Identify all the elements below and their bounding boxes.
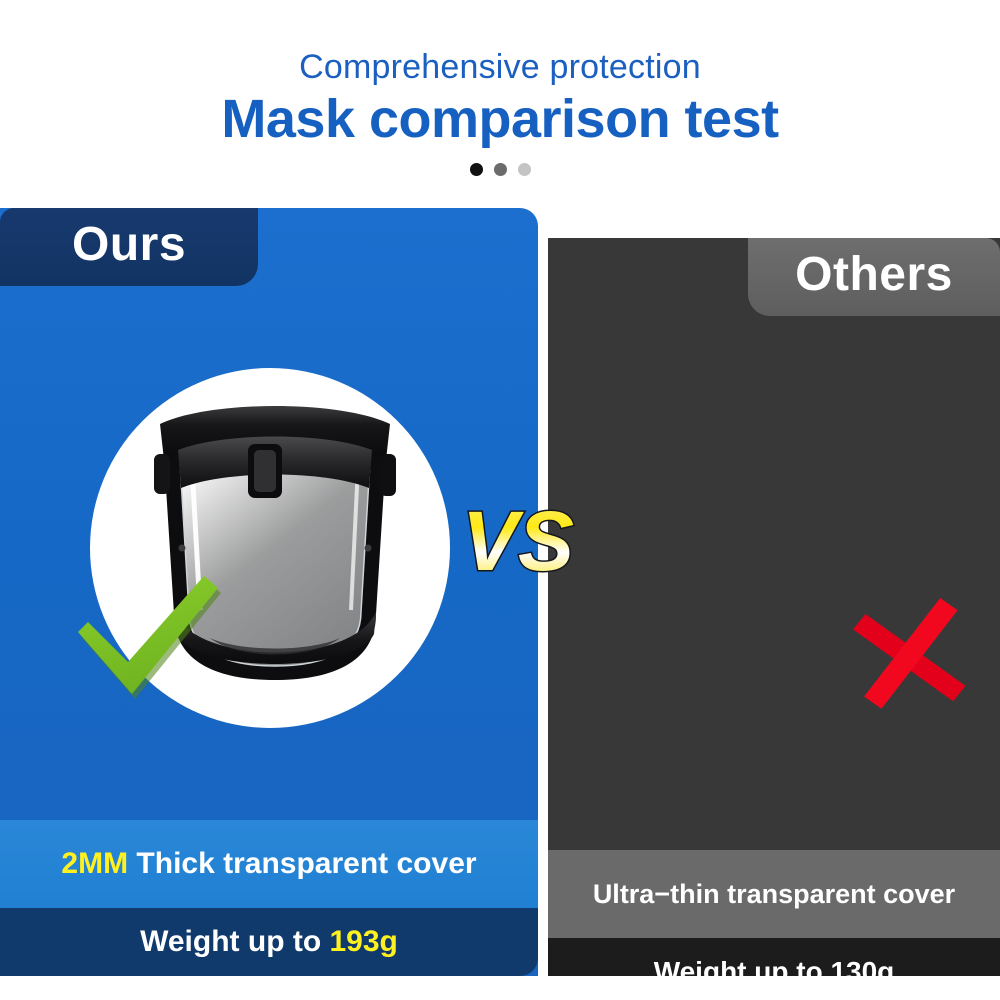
carousel-dots (0, 163, 1000, 176)
others-weight-text: Weight up to 130g (654, 956, 895, 976)
carousel-dot-1[interactable] (470, 163, 483, 176)
ours-cover-highlight: 2MM (61, 847, 128, 880)
others-cover-band: Ultra−thin transparent cover (548, 850, 1000, 938)
others-weight-value: 130g (830, 956, 894, 976)
ours-cover-rest: Thick transparent cover (128, 847, 476, 880)
others-weight-bar: Weight up to 130g (548, 938, 1000, 976)
ours-tab[interactable]: Ours (0, 208, 258, 286)
green-check-icon (72, 570, 222, 700)
ours-tab-label: Ours (72, 221, 186, 273)
red-cross-icon (850, 595, 980, 715)
ours-weight-value: 193g (330, 925, 398, 958)
ours-weight-bar: Weight up to 193g (0, 908, 538, 976)
vs-badge: VS (448, 498, 588, 588)
page-title: Mask comparison test (0, 88, 1000, 150)
others-cover-text: Ultra−thin transparent cover (593, 879, 955, 910)
ours-weight-prefix: Weight up to (140, 925, 329, 958)
ours-cover-band: 2MM Thick transparent cover (0, 820, 538, 908)
others-tab[interactable]: Others (748, 238, 1000, 316)
others-weight-prefix: Weight up to (654, 956, 831, 976)
carousel-dot-3[interactable] (518, 163, 531, 176)
others-tab-label: Others (795, 251, 953, 303)
page-header: Comprehensive protection Mask comparison… (0, 0, 1000, 200)
comparison-stage: Ultra−thin transparent cover Weight up t… (0, 200, 1000, 1000)
ours-cover-text: 2MM Thick transparent cover (61, 847, 476, 881)
vs-label: VS (462, 498, 574, 588)
header-subtitle: Comprehensive protection (0, 48, 1000, 87)
ours-weight-text: Weight up to 193g (140, 925, 398, 959)
carousel-dot-2[interactable] (494, 163, 507, 176)
